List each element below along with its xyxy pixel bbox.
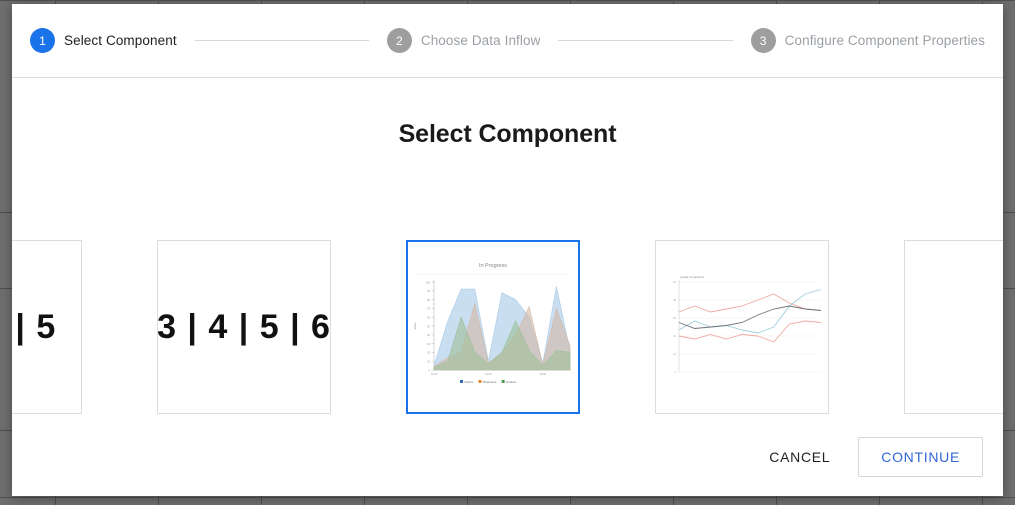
svg-text:30: 30 (427, 342, 430, 346)
stepper-step-2[interactable]: 2 Choose Data Inflow (387, 28, 541, 53)
svg-text:60: 60 (427, 316, 430, 320)
svg-text:90: 90 (427, 289, 430, 293)
chart-title: Loads Completed (680, 275, 704, 279)
svg-text:60: 60 (673, 281, 676, 284)
svg-text:12: 12 (673, 353, 676, 356)
step-1-number: 1 (30, 28, 55, 53)
component-thumbnail[interactable] (904, 240, 1003, 414)
legend-label: Orders (464, 380, 473, 384)
step-2-number: 2 (387, 28, 412, 53)
svg-text:40: 40 (427, 333, 430, 337)
svg-text:100: 100 (426, 280, 431, 284)
line-series (679, 290, 821, 334)
component-thumbnail[interactable]: 3 | 4 | 5 | 6 (157, 240, 331, 414)
dialog-body: Select Component 3 | 4 | 5Probe, 3 Value… (12, 78, 1003, 418)
component-thumbnail[interactable]: In Progress0102030405060708090100Value11… (406, 240, 580, 414)
backdrop-gridline (0, 0, 1015, 1)
legend-label: Tenders (506, 380, 517, 384)
step-2-label: Choose Data Inflow (421, 33, 541, 48)
step-1-label: Select Component (64, 33, 177, 48)
component-thumbnail[interactable]: 3 | 4 | 5 (12, 240, 82, 414)
svg-text:12:00: 12:00 (485, 372, 492, 376)
svg-text:50: 50 (427, 324, 430, 328)
continue-button[interactable]: CONTINUE (858, 437, 983, 477)
stepper-step-1[interactable]: 1 Select Component (30, 28, 177, 53)
dialog-footer: CANCEL CONTINUE (12, 418, 1003, 496)
stepper-connector-2 (558, 40, 732, 41)
svg-text:36: 36 (673, 317, 676, 320)
chart-title: In Progress (479, 263, 507, 269)
area-chart-thumbnail: In Progress0102030405060708090100Value11… (408, 252, 578, 402)
legend-label: Shipments (483, 380, 497, 384)
svg-text:Value: Value (413, 322, 417, 329)
backdrop-gridline (0, 497, 1015, 498)
svg-text:0: 0 (429, 368, 431, 372)
step-3-label: Configure Component Properties (785, 33, 985, 48)
stepper-connector-1 (195, 40, 369, 41)
line-series (679, 306, 821, 329)
step-3-number: 3 (751, 28, 776, 53)
component-card-next-component[interactable] (903, 240, 1003, 430)
line-series (679, 294, 821, 312)
svg-text:24: 24 (673, 335, 676, 338)
wizard-stepper: 1 Select Component 2 Choose Data Inflow … (12, 4, 1003, 78)
component-thumbnail[interactable]: Loads Completed01224364860 (655, 240, 829, 414)
probe-values-text: 3 | 4 | 5 | 6 (157, 308, 331, 347)
stepper-step-3[interactable]: 3 Configure Component Properties (751, 28, 985, 53)
probe-values-text: 3 | 4 | 5 (12, 308, 56, 347)
line-chart-thumbnail: Loads Completed01224364860 (657, 252, 827, 402)
svg-text:20: 20 (427, 351, 430, 355)
svg-text:70: 70 (427, 307, 430, 311)
cancel-button[interactable]: CANCEL (763, 440, 836, 474)
svg-text:0: 0 (675, 371, 677, 374)
page-title: Select Component (12, 78, 1003, 149)
svg-text:11:00: 11:00 (431, 372, 438, 376)
svg-text:80: 80 (427, 298, 430, 302)
svg-text:13:00: 13:00 (540, 372, 547, 376)
select-component-dialog: 1 Select Component 2 Choose Data Inflow … (12, 4, 1003, 496)
svg-text:48: 48 (673, 299, 676, 302)
svg-text:10: 10 (427, 360, 430, 364)
